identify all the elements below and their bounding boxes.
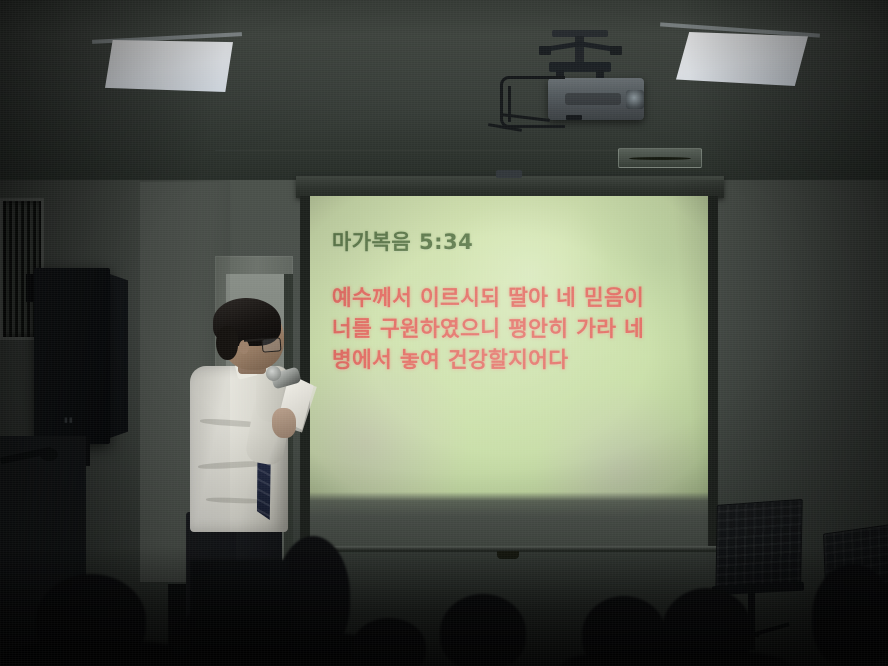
projector-adjust-foot [566, 115, 582, 120]
projector-mount-foot-left [539, 46, 551, 55]
speaker-hand [272, 408, 296, 438]
pull-down-projection-screen: 마가복음 5:34 예수께서 이르시되 딸아 네 믿음이 너를 구원하였으니 평… [310, 196, 708, 548]
projection-screen-rail-left [300, 196, 310, 548]
ceiling-air-diffuser [618, 148, 702, 168]
projector-cage-bar-inner [508, 86, 511, 122]
bottom-darkness [0, 546, 888, 666]
photo-scene: ▮▮ 마가복음 5:34 예수께서 이르시되 딸아 네 믿음이 너를 구원하였으… [0, 0, 888, 666]
slide-body-line-2: 너를 구원하였으니 평안히 가라 네 [332, 314, 698, 345]
speaker-ear [239, 340, 249, 354]
projector-lens [626, 90, 644, 109]
slide-title: 마가복음 5:34 [332, 231, 698, 255]
microphone-head [266, 366, 281, 381]
slide-text-block: 마가복음 5:34 예수께서 이르시되 딸아 네 믿음이 너를 구원하였으니 평… [332, 231, 698, 376]
slide-body-line-3: 병에서 놓여 건강할지어다 [332, 345, 698, 376]
slide-body-line-1: 예수께서 이르시되 딸아 네 믿음이 [332, 283, 698, 314]
slide-body: 예수께서 이르시되 딸아 네 믿음이 너를 구원하였으니 평안히 가라 네 병에… [332, 283, 698, 377]
speaker-eyeglasses-lens [262, 337, 282, 352]
projector-mount-foot-right [610, 46, 622, 55]
projection-screen-mount-bracket [496, 170, 522, 178]
screen-unlit-lower-area [310, 492, 708, 548]
ceiling-shadow-left [0, 0, 300, 196]
